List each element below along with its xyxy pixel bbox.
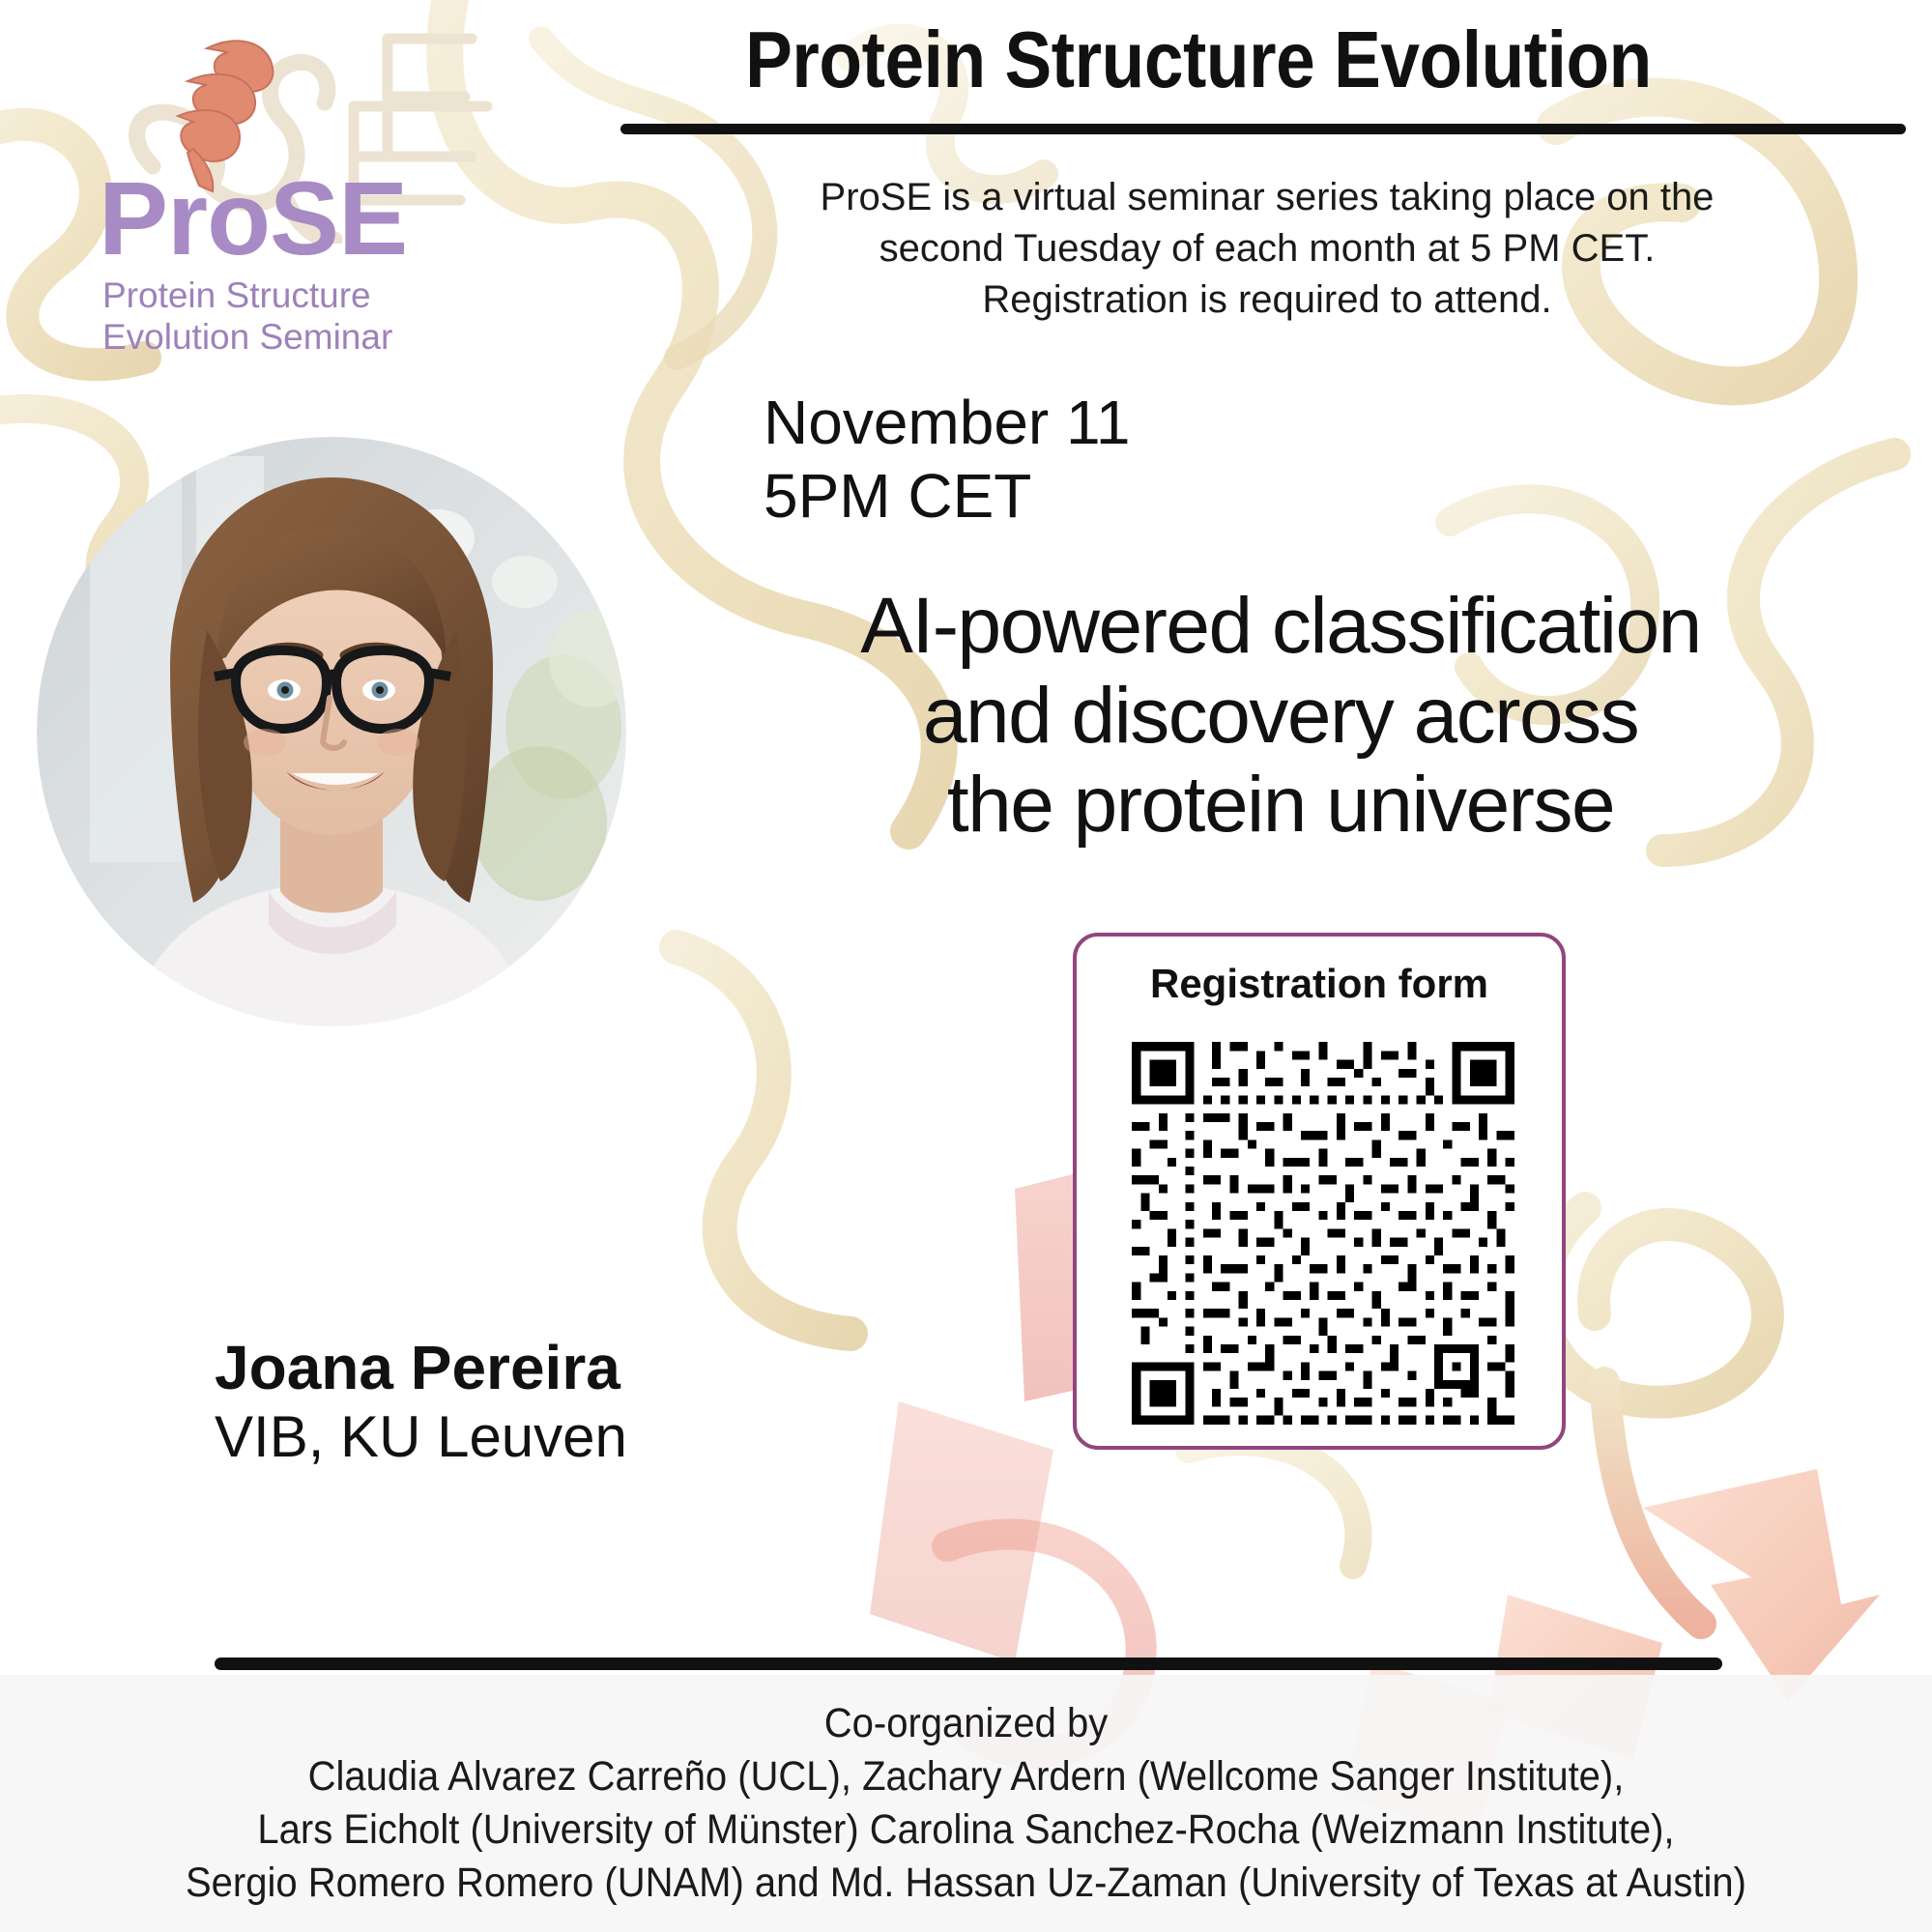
logo-subtitle-line-2: Evolution Seminar — [102, 316, 508, 358]
speaker-affiliation: VIB, KU Leuven — [215, 1406, 891, 1467]
seminar-description: ProSE is a virtual seminar series taking… — [615, 172, 1919, 327]
header-divider — [620, 124, 1906, 134]
speaker-headshot-illustration — [37, 437, 626, 1026]
page-title: Protein Structure Evolution — [569, 14, 1828, 106]
talk-title: AI-powered classification and discovery … — [677, 582, 1885, 851]
footer-line-3: Lars Eicholt (University of Münster) Car… — [122, 1803, 1810, 1857]
event-datetime: November 11 5PM CET — [764, 387, 1440, 533]
description-line-2: second Tuesday of each month at 5 PM CET… — [615, 223, 1919, 274]
speaker-name: Joana Pereira — [215, 1336, 891, 1400]
speaker-portrait — [37, 437, 626, 1026]
description-line-3: Registration is required to attend. — [615, 274, 1919, 326]
logo-subtitle: Protein Structure Evolution Seminar — [102, 274, 508, 359]
footer-line-1: Co-organized by — [122, 1697, 1810, 1750]
footer-line-2: Claudia Alvarez Carreño (UCL), Zachary A… — [122, 1750, 1810, 1803]
description-line-1: ProSE is a virtual seminar series taking… — [615, 172, 1919, 223]
registration-form-label: Registration form — [1077, 961, 1562, 1007]
event-date: November 11 — [764, 387, 1440, 460]
logo-subtitle-line-1: Protein Structure — [102, 274, 508, 316]
co-organizers-credits: Co-organized by Claudia Alvarez Carreño … — [122, 1697, 1810, 1910]
talk-title-line-3: the protein universe — [677, 761, 1885, 851]
qr-code-image[interactable] — [1123, 1033, 1523, 1433]
event-time: 5PM CET — [764, 460, 1440, 533]
footer-divider — [215, 1658, 1722, 1670]
registration-card[interactable]: Registration form — [1073, 933, 1566, 1450]
registration-qr-code[interactable] — [1123, 1033, 1523, 1433]
prose-logo: ProSE Protein Structure Evolution Semina… — [93, 21, 508, 340]
footer-line-4: Sergio Romero Romero (UNAM) and Md. Hass… — [122, 1857, 1810, 1910]
talk-title-line-1: AI-powered classification — [677, 582, 1885, 672]
talk-title-line-2: and discovery across — [677, 672, 1885, 762]
logo-wordmark: ProSE — [99, 166, 505, 271]
